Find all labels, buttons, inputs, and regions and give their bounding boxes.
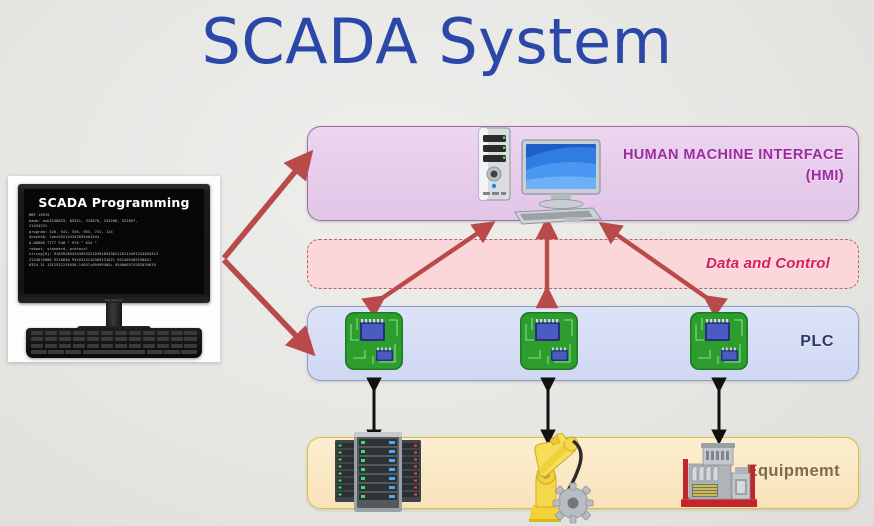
- robot-arm-icon: [505, 427, 597, 525]
- server-rack-icon: [333, 428, 423, 516]
- factory-plant-icon: [678, 437, 760, 511]
- keyboard-icon: [515, 208, 601, 224]
- keyboard-row: [26, 344, 202, 348]
- data-and-control-band: Data and Control: [307, 239, 859, 289]
- data-and-control-label: Data and Control: [706, 253, 830, 275]
- plc-circuit-board-icon: [343, 310, 405, 372]
- arrow-workstation-to-hmi: [224, 167, 299, 258]
- keyboard-row: [26, 331, 202, 335]
- computer-tower-icon: [479, 128, 510, 200]
- scada-programming-workstation: SCADA Programming MBF 19519 bade: ask324…: [8, 176, 220, 362]
- monitor-icon: SCADA Programming MBF 19519 bade: ask324…: [18, 184, 210, 303]
- keyboard-icon: [26, 328, 202, 358]
- hmi-label: HUMAN MACHINE INTERFACE (HMI): [623, 145, 844, 187]
- monitor-brand-label: Panasonic: [105, 298, 123, 302]
- keyboard-row: [26, 350, 202, 354]
- gear-icon: [553, 483, 593, 523]
- server-rack-center: [354, 432, 402, 512]
- scada-diagram: SCADA System HUMAN MACHINE INTERFACE (HM…: [0, 0, 874, 526]
- screen-title: SCADA Programming: [29, 195, 199, 210]
- monitor-screen: SCADA Programming MBF 19519 bade: ask324…: [24, 189, 204, 294]
- desktop-computer-icon: [467, 118, 607, 226]
- screen-code-text: MBF 19519 bade: ask3246833, 85321, 31587…: [29, 213, 199, 269]
- keyboard-row: [26, 337, 202, 341]
- robot-base: [529, 505, 561, 522]
- arrow-workstation-to-plc: [224, 260, 300, 340]
- plc-circuit-board-icon: [688, 310, 750, 372]
- monitor-icon: [522, 140, 600, 209]
- page-title: SCADA System: [0, 4, 874, 80]
- equipment-label: Equipmemt: [747, 462, 840, 481]
- plc-circuit-board-icon: [518, 310, 580, 372]
- plc-label: PLC: [800, 333, 834, 351]
